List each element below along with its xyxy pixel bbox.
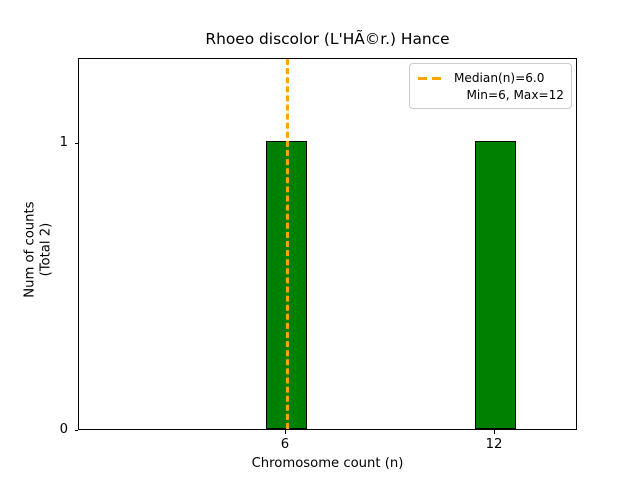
x-tick-mark-6 <box>285 430 286 434</box>
plot-area <box>78 58 577 430</box>
x-tick-label-6: 6 <box>255 437 315 452</box>
median-line <box>286 59 289 429</box>
y-axis-label: Num of counts (Total 2) <box>22 64 53 436</box>
chart-title: Rhoeo discolor (L'HÃ©r.) Hance <box>78 30 577 48</box>
x-axis-label: Chromosome count (n) <box>78 456 577 471</box>
dashed-line-icon <box>417 72 447 84</box>
x-tick-label-12: 12 <box>464 437 524 452</box>
legend-label-minmax: Min=6, Max=12 <box>417 88 564 102</box>
chart-figure: Rhoeo discolor (L'HÃ©r.) Hance 0 1 6 12 … <box>0 0 640 480</box>
y-axis-label-line-1: Num of counts <box>22 64 38 436</box>
chart-legend: Median(n)=6.0 Min=6, Max=12 <box>409 63 572 109</box>
y-axis-label-line-2: (Total 2) <box>38 64 54 436</box>
legend-label-median: Median(n)=6.0 <box>454 71 544 85</box>
bar-n-12[interactable] <box>475 141 516 429</box>
x-tick-mark-12 <box>494 430 495 434</box>
legend-entry-median: Median(n)=6.0 <box>417 69 564 86</box>
legend-entry-minmax: Min=6, Max=12 <box>417 86 564 103</box>
